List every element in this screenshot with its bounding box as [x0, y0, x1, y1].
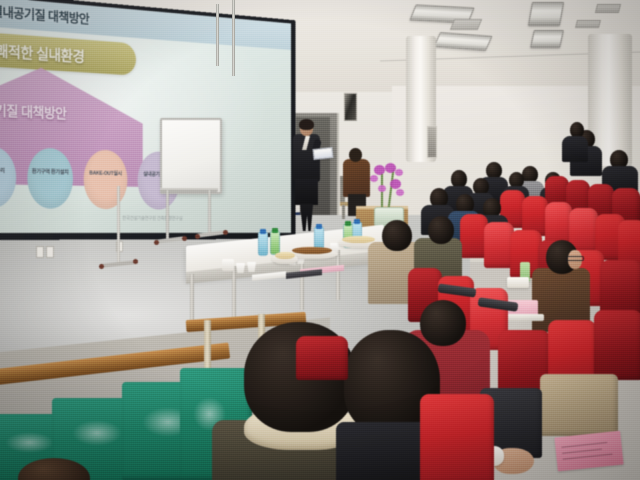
caster-wheel	[195, 234, 200, 239]
orchid-bloom	[378, 185, 386, 192]
water-bottle	[270, 231, 280, 255]
table-leg	[336, 250, 340, 300]
wall-speaker	[344, 93, 357, 121]
whiteboard-surface	[160, 118, 222, 194]
banner-mount-rod	[232, 0, 235, 76]
bottle-cap	[345, 221, 351, 226]
ceiling-air-vent	[450, 19, 482, 30]
handout-line	[562, 449, 602, 454]
food-items	[275, 252, 295, 259]
audience-head	[382, 220, 412, 251]
audience-head	[428, 216, 454, 244]
floor-outlet	[36, 246, 44, 258]
orchid-bloom	[370, 175, 378, 182]
presenter-handout	[312, 147, 333, 160]
orchid-bloom	[374, 165, 385, 175]
cup-stack	[222, 259, 234, 271]
screen-stand-pole	[117, 186, 120, 264]
slide-oval: BAKE-OUT실시	[84, 149, 128, 209]
ceiling-light-fixture	[530, 30, 564, 48]
auditorium-seat	[420, 394, 494, 480]
ceiling-air-vent	[575, 20, 601, 28]
whiteboard-leg	[166, 190, 169, 240]
slide-oval: 환기구역 환기설치	[27, 147, 73, 208]
auditorium-seat	[545, 202, 572, 244]
slide-pill-label: 쾌적한 실내환경	[0, 40, 84, 67]
orchid-stem	[388, 169, 395, 209]
presenter	[289, 121, 323, 237]
presenter-skirt	[295, 179, 318, 205]
orchid-bloom	[395, 169, 403, 176]
pink-handout	[554, 431, 623, 472]
slide-pill: 쾌적한 실내환경	[0, 30, 136, 76]
caster-wheel	[133, 259, 138, 264]
whiteboard-leg	[208, 190, 211, 234]
auditorium-seat	[296, 336, 348, 380]
snack-item	[507, 277, 529, 288]
audience-head	[420, 300, 466, 346]
bottle-cap	[316, 224, 322, 229]
presenter-hair	[299, 119, 314, 130]
paper-cup	[247, 262, 256, 272]
orchid-arrangement	[366, 163, 410, 225]
food-items	[292, 247, 332, 254]
audience-torso	[562, 136, 588, 162]
handout-line	[561, 442, 607, 448]
eyeglasses-icon	[566, 256, 584, 261]
projection-screen: 실내공기질 대책방안 쾌적한 실내환경 실내공기질 대책방안 오염원 관리 환기…	[0, 0, 296, 240]
food-items	[342, 236, 375, 243]
table-leg	[300, 256, 304, 310]
slide-oval-label: 환기구역 환기설치	[27, 169, 73, 177]
orchid-bloom	[396, 189, 404, 196]
caster-wheel	[182, 236, 187, 241]
floor-outlet	[46, 246, 54, 258]
lecture-hall-photo: 발표회 표회 구대학교 환경공학과 실내공기질 대책방안 쾌적한 실내환경 실내…	[0, 0, 640, 480]
slide-surface: 실내공기질 대책방안 쾌적한 실내환경 실내공기질 대책방안 오염원 관리 환기…	[0, 0, 291, 233]
paper-cup	[236, 263, 245, 273]
slide-footer-text: 한국건설기술연구원 건축환경연구실	[122, 215, 182, 222]
auditorium-seat	[594, 310, 640, 380]
handout-line	[563, 454, 613, 460]
caster-wheel	[223, 230, 228, 235]
banner-mount-rod	[216, 4, 219, 66]
bottle-cap	[260, 229, 266, 234]
slide-oval-label: BAKE-OUT실시	[84, 170, 128, 178]
water-bottle	[258, 232, 268, 256]
bottle-cap	[354, 219, 360, 224]
presenter-legs	[299, 204, 314, 231]
caster-wheel	[154, 240, 159, 245]
ceiling-air-vent	[595, 4, 621, 13]
caster-wheel	[99, 264, 104, 269]
staff-head	[349, 148, 362, 162]
orchid-bloom	[390, 179, 401, 189]
ceiling-light-fixture	[528, 2, 564, 26]
handbag	[540, 374, 618, 436]
wall-panel	[427, 126, 437, 158]
slide-oval-label: 오염원 관리	[0, 168, 16, 176]
bottle-cap	[272, 228, 278, 233]
